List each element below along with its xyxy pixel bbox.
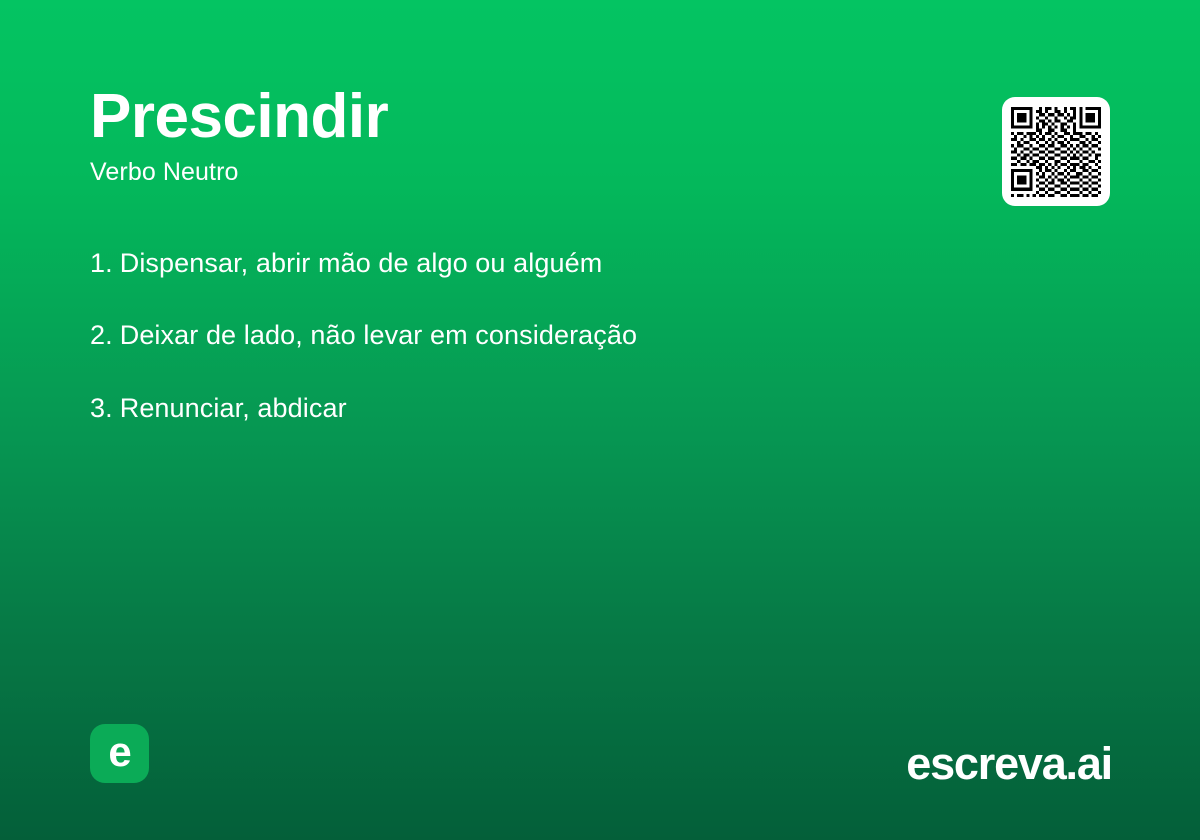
definition-index: 2. — [90, 320, 113, 350]
definition-text: Renunciar, abdicar — [120, 393, 347, 423]
definitions-list: 1.Dispensar, abrir mão de algo ou alguém… — [90, 247, 950, 425]
list-item: 1.Dispensar, abrir mão de algo ou alguém — [90, 247, 950, 280]
brand-logo: e — [90, 724, 149, 783]
qr-code-icon — [1011, 107, 1101, 197]
logo-letter: e — [108, 731, 130, 773]
definition-index: 3. — [90, 393, 113, 423]
entry-header: Prescindir Verbo Neutro — [90, 82, 388, 187]
list-item: 2.Deixar de lado, não levar em considera… — [90, 319, 950, 352]
word-class-label: Verbo Neutro — [90, 157, 388, 187]
definition-text: Dispensar, abrir mão de algo ou alguém — [120, 248, 603, 278]
definition-text: Deixar de lado, não levar em consideraçã… — [120, 320, 637, 350]
qr-code-container[interactable] — [1002, 97, 1110, 206]
page-title: Prescindir — [90, 82, 388, 151]
definition-index: 1. — [90, 248, 113, 278]
brand-wordmark: escreva.ai — [906, 739, 1112, 789]
dictionary-card: Prescindir Verbo Neutro 1.Dispensar, abr… — [0, 0, 1200, 840]
list-item: 3.Renunciar, abdicar — [90, 392, 950, 425]
